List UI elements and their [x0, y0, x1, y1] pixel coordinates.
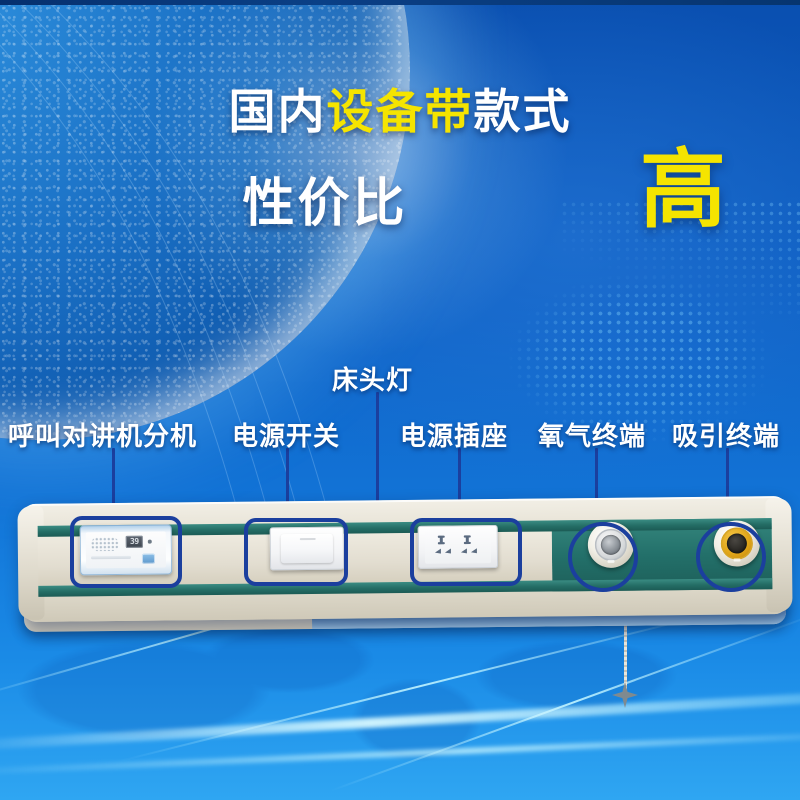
rocker-switch[interactable]	[281, 534, 333, 564]
top-strip	[0, 0, 800, 5]
power-switch-unit[interactable]	[270, 527, 344, 571]
suction-terminal-marking	[734, 558, 741, 561]
headline-line-1: 国内设备带款式	[0, 88, 800, 135]
intercom-trim-line	[91, 556, 131, 559]
headline-part-1: 国内	[229, 85, 327, 138]
status-led-icon	[148, 540, 152, 544]
oxygen-terminal-unit[interactable]	[588, 522, 634, 568]
suction-terminal-port[interactable]	[727, 533, 747, 553]
oxygen-terminal-marking	[608, 560, 615, 563]
callout-label-intercom: 呼叫对讲机分机	[8, 416, 197, 453]
promo-banner: 国内设备带款式 性价比 高 呼叫对讲机分机 电源开关 床头灯 电源插座 氧气终端…	[0, 0, 800, 800]
callout-label-oxygen-outlet: 氧气终端	[538, 416, 646, 453]
socket-faceplate	[425, 530, 491, 564]
headline-accent-1: 设备带	[327, 85, 474, 138]
headline-accent-2: 高	[640, 147, 726, 233]
power-socket-unit[interactable]	[418, 525, 498, 569]
intercom-call-button[interactable]	[142, 554, 155, 564]
callout-label-bed-lamp: 床头灯	[332, 360, 413, 397]
oxygen-terminal-port[interactable]	[601, 535, 621, 555]
speaker-grille-icon	[91, 537, 119, 551]
nurse-call-intercom-unit[interactable]: 39	[80, 524, 173, 575]
headline-block: 国内设备带款式 性价比 高	[0, 88, 800, 241]
callout-label-power-socket: 电源插座	[400, 416, 508, 453]
callout-label-suction-outlet: 吸引终端	[672, 416, 780, 453]
intercom-display: 39	[126, 536, 143, 548]
socket-holes-icon	[425, 530, 491, 564]
intercom-faceplate: 39	[86, 532, 166, 569]
suction-terminal-unit[interactable]	[714, 520, 760, 566]
switch-marking	[300, 538, 316, 540]
medical-bedhead-panel: 39	[21, 496, 788, 622]
headline-part-2: 款式	[474, 85, 572, 138]
callout-label-power-switch: 电源开关	[232, 416, 340, 453]
headline-line-2-wrap: 性价比 高	[0, 161, 800, 241]
